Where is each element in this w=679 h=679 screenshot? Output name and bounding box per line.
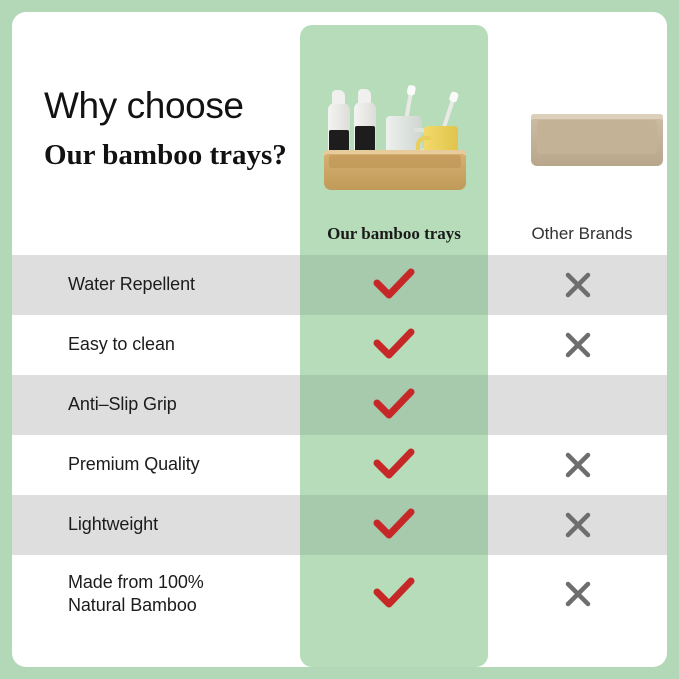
feature-label: Anti–Slip Grip	[12, 393, 300, 416]
cross-icon	[563, 270, 593, 300]
other-mark-cell	[488, 450, 667, 480]
check-icon	[372, 328, 416, 362]
cross-icon	[563, 330, 593, 360]
other-brand-tray-photo	[517, 92, 667, 192]
row-background	[488, 375, 667, 435]
card-header: Why choose Our bamboo trays? Our bamboo …	[12, 12, 667, 255]
other-mark-cell	[488, 510, 667, 540]
title-line-1: Why choose	[44, 86, 294, 127]
ours-mark-cell	[300, 577, 488, 611]
column-header-other: Other Brands	[488, 224, 667, 244]
column-header-ours: Our bamboo trays	[300, 224, 488, 244]
comparison-table: Water RepellentEasy to cleanAnti–Slip Gr…	[12, 255, 667, 633]
feature-label: Water Repellent	[12, 273, 300, 296]
check-icon	[372, 388, 416, 422]
cross-icon	[563, 510, 593, 540]
feature-label: Easy to clean	[12, 333, 300, 356]
table-row: Easy to clean	[12, 315, 667, 375]
cross-icon	[563, 579, 593, 609]
check-icon	[372, 577, 416, 611]
comparison-card: Why choose Our bamboo trays? Our bamboo …	[12, 12, 667, 667]
table-row: Lightweight	[12, 495, 667, 555]
ours-mark-cell	[300, 268, 488, 302]
plain-tray-icon	[531, 114, 663, 166]
other-mark-cell	[488, 270, 667, 300]
ours-mark-cell	[300, 388, 488, 422]
cross-icon	[563, 450, 593, 480]
check-icon	[372, 268, 416, 302]
ours-mark-cell	[300, 448, 488, 482]
ours-mark-cell	[300, 328, 488, 362]
table-row: Water Repellent	[12, 255, 667, 315]
bamboo-tray-icon	[324, 150, 466, 190]
feature-label: Lightweight	[12, 513, 300, 536]
check-icon	[372, 448, 416, 482]
feature-label: Made from 100%Natural Bamboo	[12, 571, 300, 617]
bamboo-tray-photo	[312, 36, 476, 208]
table-row: Premium Quality	[12, 435, 667, 495]
table-row: Made from 100%Natural Bamboo	[12, 555, 667, 633]
table-row: Anti–Slip Grip	[12, 375, 667, 435]
title-line-2: Our bamboo trays?	[44, 139, 294, 172]
other-mark-cell	[488, 330, 667, 360]
check-icon	[372, 508, 416, 542]
ours-mark-cell	[300, 508, 488, 542]
other-mark-cell	[488, 579, 667, 609]
feature-label-line2: Natural Bamboo	[68, 594, 300, 617]
soap-bottle-icon	[354, 102, 376, 154]
feature-label: Premium Quality	[12, 453, 300, 476]
page-title: Why choose Our bamboo trays?	[44, 86, 294, 172]
